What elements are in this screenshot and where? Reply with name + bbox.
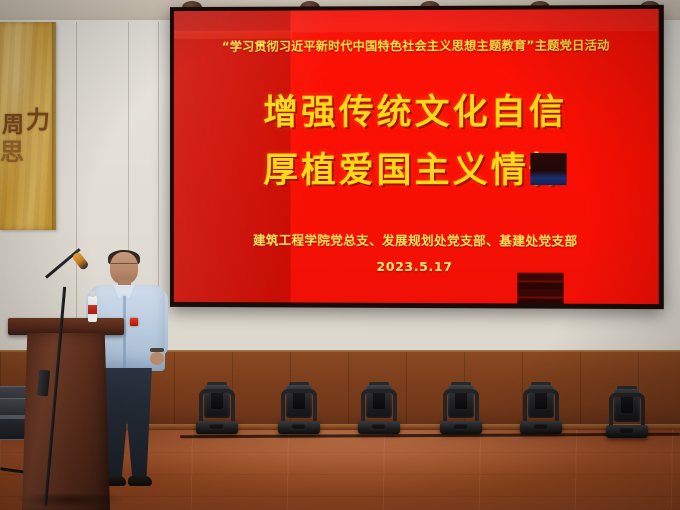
light-yoke (361, 389, 397, 423)
glasses-icon (111, 263, 137, 269)
led-screen-surface: “学习贯彻习近平新时代中国特色社会主义思想主题教育”主题党日活动 增强传统文化自… (174, 9, 659, 304)
scroll-edge (52, 22, 56, 230)
light-base (520, 421, 562, 434)
photo-scene: 周 力 思 “学习贯彻习近平新时代中国特色社会主义思想主题教育”主题党日活动 增… (0, 0, 680, 510)
screen-organizations-text: 建筑工程学院党总支、发展规划处党支部、基建处党支部 (174, 229, 659, 249)
stage-light[interactable] (440, 376, 482, 434)
mic-clamp (37, 370, 50, 397)
stage-light[interactable] (358, 378, 400, 434)
screen-title-line-2: 厚植爱国主义情怀 (174, 142, 659, 193)
light-base (196, 421, 238, 434)
screen-title-line-1: 增强传统文化自信 (174, 83, 659, 135)
stage-light[interactable] (606, 382, 648, 438)
stage-light[interactable] (196, 378, 238, 434)
calligraphy-scroll: 周 力 思 (0, 22, 56, 230)
lectern-shadow (14, 494, 126, 508)
led-screen[interactable]: “学习贯彻习近平新时代中国特色社会主义思想主题教育”主题党日活动 增强传统文化自… (170, 5, 664, 309)
stage-light[interactable] (278, 378, 320, 434)
calligraphy-char: 周 (2, 114, 24, 136)
stage-light[interactable] (520, 378, 562, 434)
light-yoke (443, 389, 479, 423)
light-yoke (199, 389, 235, 423)
screen-glitch-bars (517, 272, 563, 304)
light-yoke (523, 389, 559, 423)
lectern (14, 318, 118, 510)
light-yoke (281, 389, 317, 423)
party-badge (130, 318, 138, 326)
lectern-top (8, 318, 124, 335)
screen-glitch-block (530, 153, 566, 185)
water-bottle (88, 296, 97, 322)
bottle-label (88, 305, 97, 314)
hand (150, 352, 164, 365)
light-base (440, 421, 482, 434)
light-base (606, 425, 648, 438)
screen-header-text: “学习贯彻习近平新时代中国特色社会主义思想主题教育”主题党日活动 (174, 35, 659, 55)
calligraphy-char: 力 (26, 108, 50, 132)
shoe (128, 476, 152, 486)
light-base (358, 421, 400, 434)
calligraphy-char: 思 (0, 140, 24, 164)
lectern-body (22, 333, 110, 510)
screen-date-text: 2023.5.17 (174, 258, 659, 275)
light-base (278, 421, 320, 434)
wall-seam (76, 22, 77, 358)
light-yoke (609, 393, 645, 427)
